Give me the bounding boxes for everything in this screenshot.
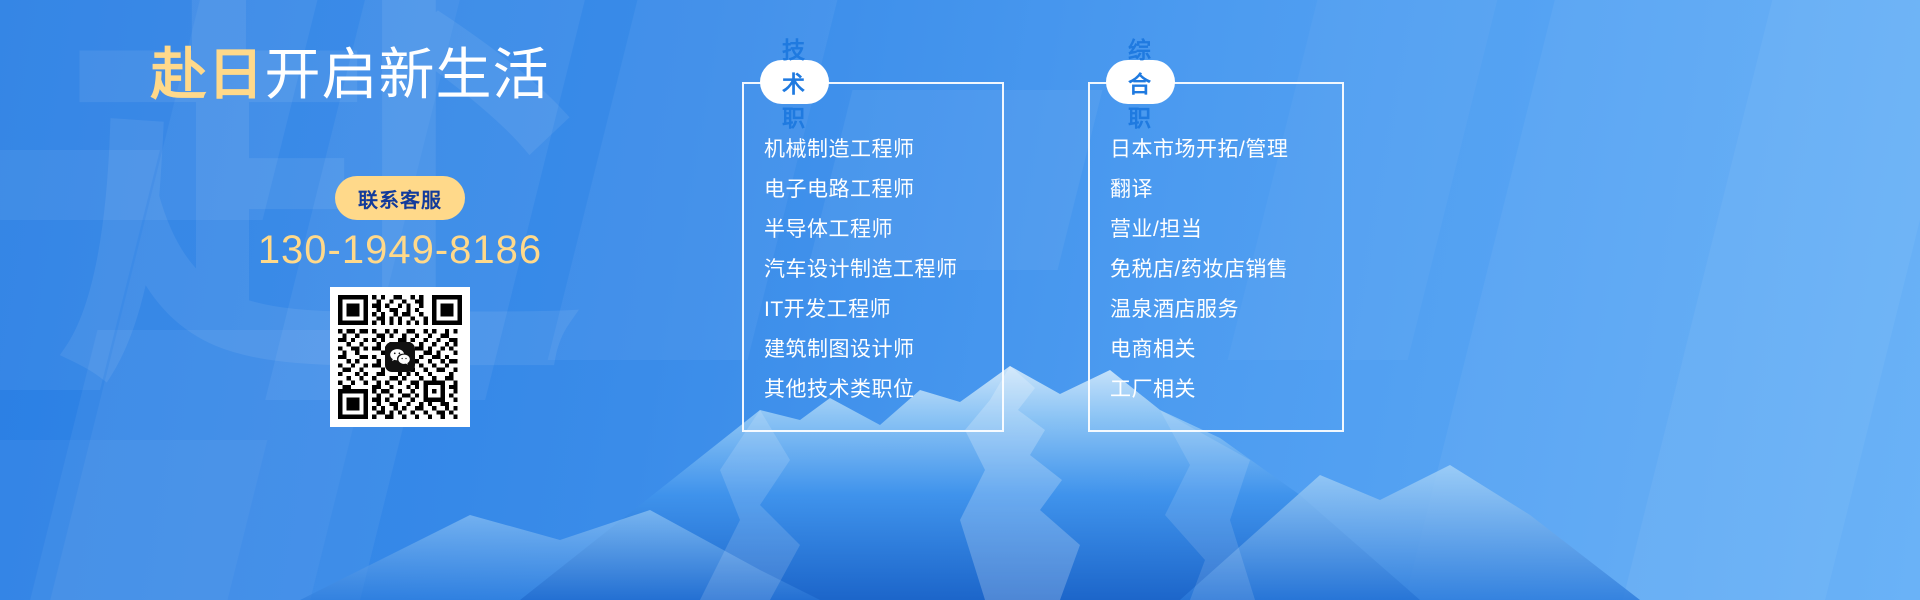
wechat-icon bbox=[385, 342, 415, 372]
wechat-glyph bbox=[390, 349, 410, 365]
page-title: 赴日开启新生活 bbox=[0, 44, 700, 106]
job-list-general: 日本市场开拓/管理 翻译 营业/担当 免税店/药妆店销售 温泉酒店服务 电商相关… bbox=[1110, 130, 1288, 410]
list-item[interactable]: 免税店/药妆店销售 bbox=[1110, 250, 1288, 290]
wechat-qr-code[interactable] bbox=[330, 287, 470, 427]
list-item[interactable]: IT开发工程师 bbox=[764, 290, 958, 330]
list-item[interactable]: 建筑制图设计师 bbox=[764, 330, 958, 370]
list-item[interactable]: 温泉酒店服务 bbox=[1110, 290, 1288, 330]
list-item[interactable]: 翻译 bbox=[1110, 170, 1288, 210]
list-item[interactable]: 汽车设计制造工程师 bbox=[764, 250, 958, 290]
phone-number[interactable]: 130-1949-8186 bbox=[0, 228, 800, 273]
headline-accent: 赴日 bbox=[151, 43, 265, 106]
list-item[interactable]: 营业/担当 bbox=[1110, 210, 1288, 250]
left-content-column: 赴日开启新生活 联系客服 130-1949-8186 bbox=[0, 0, 700, 600]
recruitment-banner: 赴 赴日开启新生活 联系客服 130-1949-8186 bbox=[0, 0, 1920, 600]
list-item[interactable]: 工厂相关 bbox=[1110, 370, 1288, 410]
panel-badge-technical[interactable]: 技术职 bbox=[760, 60, 829, 104]
list-item[interactable]: 机械制造工程师 bbox=[764, 130, 958, 170]
contact-support-button[interactable]: 联系客服 bbox=[335, 176, 465, 220]
list-item[interactable]: 日本市场开拓/管理 bbox=[1110, 130, 1288, 170]
list-item[interactable]: 电子电路工程师 bbox=[764, 170, 958, 210]
list-item[interactable]: 半导体工程师 bbox=[764, 210, 958, 250]
list-item[interactable]: 电商相关 bbox=[1110, 330, 1288, 370]
job-list-technical: 机械制造工程师 电子电路工程师 半导体工程师 汽车设计制造工程师 IT开发工程师… bbox=[764, 130, 958, 410]
headline-plain: 开启新生活 bbox=[265, 43, 550, 106]
panel-badge-general[interactable]: 综合职 bbox=[1106, 60, 1175, 104]
list-item[interactable]: 其他技术类职位 bbox=[764, 370, 958, 410]
